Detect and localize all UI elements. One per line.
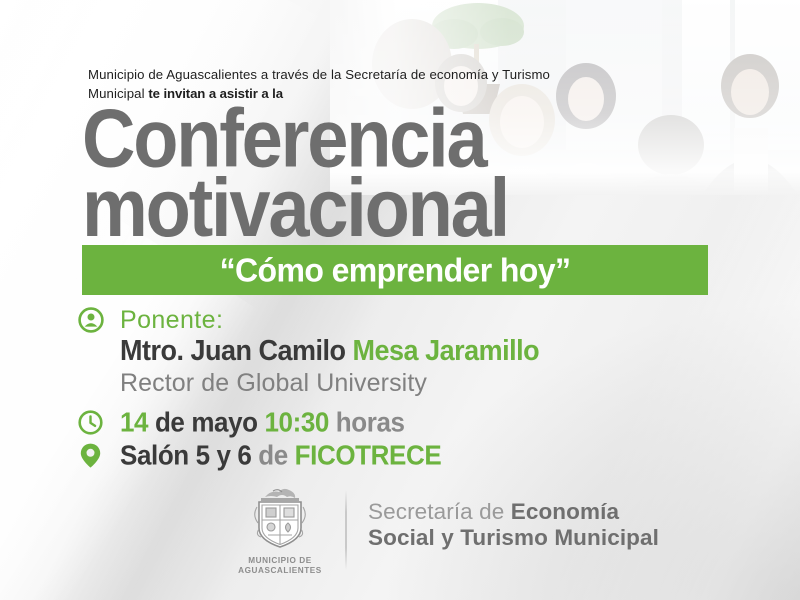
- place-room: Salón 5 y 6: [120, 439, 251, 471]
- date-row: 14 de mayo 10:30 horas: [78, 407, 738, 438]
- municipal-crest-block: MUNICIPIO DE AGUASCALIENTES: [228, 487, 332, 576]
- subtitle-banner-text: “Cómo emprender hoy”: [220, 251, 571, 290]
- poster-content: Municipio de Aguascalientes a través de …: [0, 0, 800, 600]
- speaker-name-dark: Mtro. Juan Camilo: [120, 335, 353, 367]
- subtitle-banner: “Cómo emprender hoy”: [82, 245, 708, 295]
- crest-caption: MUNICIPIO DE AGUASCALIENTES: [238, 556, 322, 576]
- date-text: 14 de mayo 10:30 horas: [120, 406, 405, 439]
- secretaria-text: Secretaría de Economía Social y Turismo …: [368, 499, 659, 551]
- secretaria-line-2: Social y Turismo Municipal: [368, 525, 659, 551]
- footer: MUNICIPIO DE AGUASCALIENTES Secretaría d…: [0, 487, 800, 582]
- speaker-name: Mtro. Juan Camilo Mesa Jaramillo: [120, 335, 738, 368]
- date-time: 10:30: [264, 406, 329, 438]
- secretaria-line-1: Secretaría de Economía: [368, 499, 659, 525]
- place-de: de: [258, 439, 288, 471]
- secretaria-line-1-bold: Economía: [511, 499, 619, 524]
- poster-canvas: Municipio de Aguascalientes a través de …: [0, 0, 800, 600]
- user-circle-icon: [78, 307, 120, 333]
- page-title: Conferencia motivacional: [82, 104, 508, 243]
- speaker-label: Ponente:: [120, 307, 223, 333]
- place-row: Salón 5 y 6 de FICOTRECE: [78, 440, 738, 471]
- footer-divider: [345, 490, 347, 570]
- map-pin-icon: [78, 442, 120, 469]
- date-day: 14: [120, 406, 148, 438]
- date-unit: horas: [336, 406, 405, 438]
- speaker-role: Rector de Global University: [120, 369, 738, 398]
- place-venue: FICOTRECE: [295, 439, 442, 471]
- title-line-2: motivacional: [82, 174, 508, 244]
- crest-caption-line-1: MUNICIPIO DE: [238, 556, 322, 566]
- crest-caption-line-2: AGUASCALIENTES: [238, 566, 322, 576]
- date-month: de mayo: [155, 406, 258, 438]
- clock-icon: [78, 410, 120, 435]
- place-text: Salón 5 y 6 de FICOTRECE: [120, 439, 441, 472]
- secretaria-line-1-light: Secretaría de: [368, 499, 511, 524]
- speaker-row: Ponente:: [78, 307, 738, 333]
- coat-of-arms-icon: [243, 487, 317, 553]
- event-details: Ponente: Mtro. Juan Camilo Mesa Jaramill…: [78, 307, 738, 471]
- speaker-name-green: Mesa Jaramillo: [353, 335, 540, 367]
